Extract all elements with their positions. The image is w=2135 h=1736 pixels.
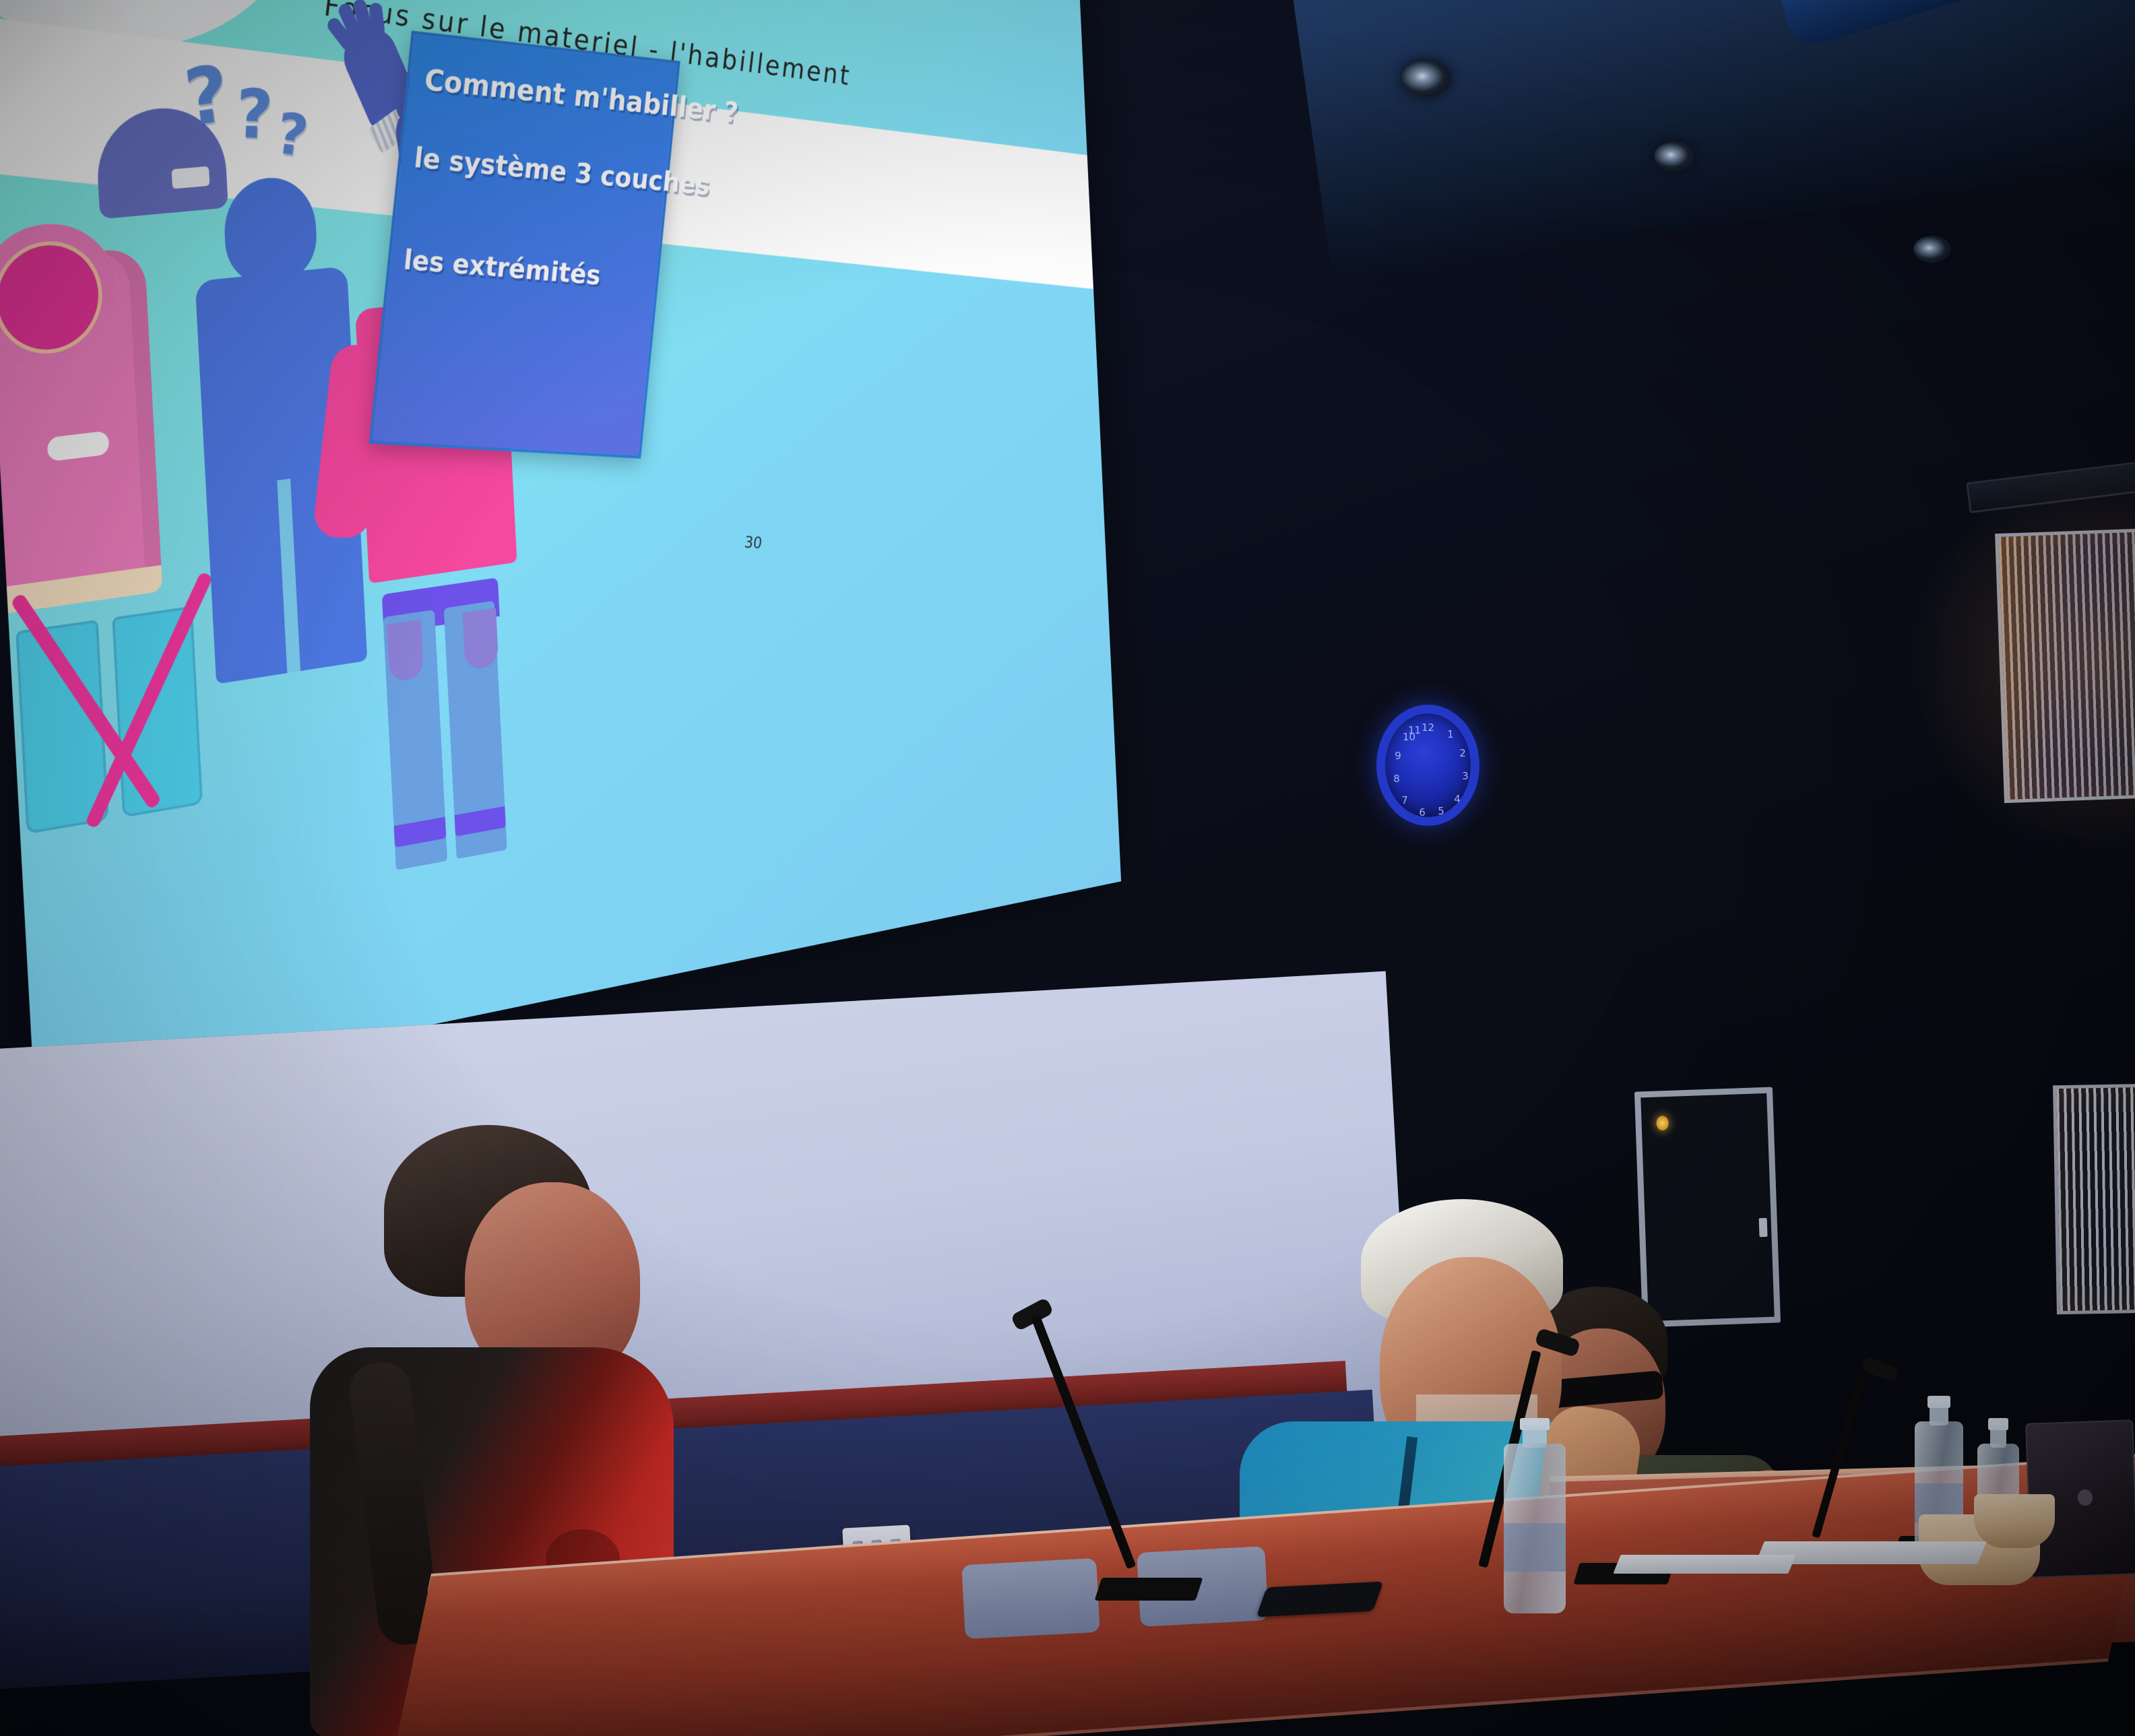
- slide-textbox: Comment m'habiller ? le système 3 couche…: [369, 30, 680, 458]
- papers: [1613, 1555, 1795, 1574]
- clock-number: 9: [1392, 750, 1404, 762]
- clock-number: 12: [1422, 721, 1434, 734]
- clock-number: 6: [1416, 806, 1428, 818]
- projection-screen: Focus sur le materiel - l'habillement: [0, 0, 1320, 1152]
- presentation-slide: Focus sur le materiel - l'habillement: [0, 0, 1121, 1107]
- clock-number: 3: [1459, 770, 1471, 782]
- clock-number: 11: [1408, 724, 1420, 736]
- wall-vent-grille: [1995, 528, 2135, 803]
- clock-number: 8: [1391, 773, 1403, 785]
- slide-illustration-question-mark: ?: [234, 79, 274, 148]
- screenshot-root: Focus sur le materiel - l'habillement: [0, 0, 2135, 1736]
- door-handle[interactable]: [1759, 1218, 1768, 1237]
- ceiling-spotlight-icon: [1913, 236, 1951, 263]
- chair[interactable]: [961, 1558, 1100, 1639]
- clock-number: 2: [1457, 747, 1469, 759]
- door-indicator-led: [1656, 1116, 1669, 1131]
- clock-number: 4: [1451, 793, 1463, 805]
- apple-logo-icon: [2077, 1489, 2093, 1506]
- bowl: [1974, 1494, 2055, 1548]
- slide-textbox-line: Comment m'habiller ?: [423, 62, 740, 129]
- slide-illustration-pink-jacket: [0, 247, 162, 613]
- slide-textbox-line: les extrémités: [402, 244, 602, 291]
- water-bottle: [1504, 1425, 1566, 1613]
- wall-clock: 12 1 2 3 4 5 6 7 8 9 10 11: [1376, 705, 1479, 826]
- slide-illustration-question-mark: ?: [181, 55, 232, 139]
- ceiling-spotlight-icon: [1654, 141, 1694, 171]
- slide-illustration-jeans: [382, 577, 511, 847]
- clock-number: 7: [1399, 794, 1411, 806]
- ceiling-spotlight-icon: [1401, 59, 1451, 97]
- clock-number: 5: [1435, 805, 1447, 817]
- wall-vent-grille: [2053, 1084, 2135, 1314]
- clock-number: 1: [1444, 728, 1457, 740]
- slide-page-number: 30: [744, 534, 763, 553]
- slide-textbox-line: le système 3 couches: [413, 141, 711, 201]
- slide-illustration-crossed-shorts: [15, 606, 207, 835]
